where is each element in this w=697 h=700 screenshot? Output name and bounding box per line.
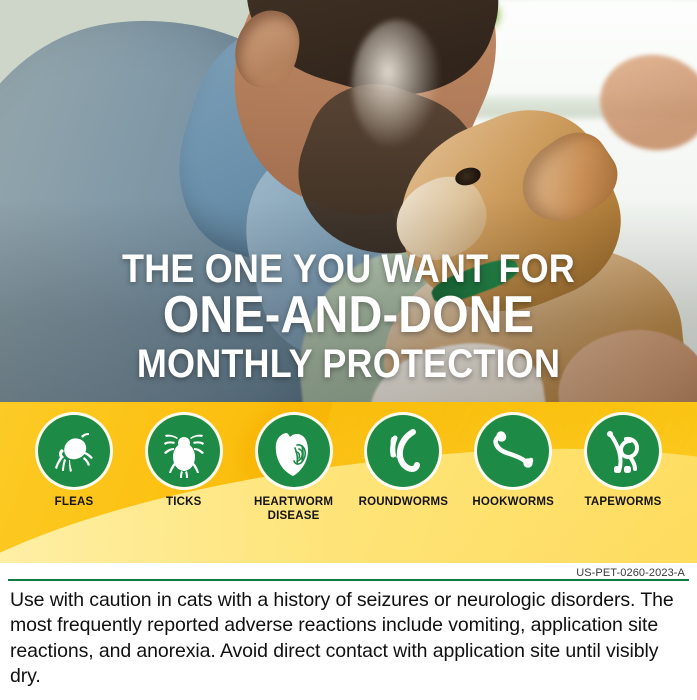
hookworm-icon bbox=[477, 415, 549, 487]
headline: THE ONE YOU WANT FOR ONE-AND-DONE MONTHL… bbox=[0, 250, 697, 384]
protection-label: TICKS bbox=[132, 496, 236, 510]
heartworm-icon bbox=[258, 415, 330, 487]
roundworm-icon bbox=[367, 415, 439, 487]
headline-line-1: THE ONE YOU WANT FOR bbox=[35, 250, 662, 288]
headline-line-3: MONTHLY PROTECTION bbox=[35, 345, 662, 383]
pet-medication-advertisement: THE ONE YOU WANT FOR ONE-AND-DONE MONTHL… bbox=[0, 0, 697, 700]
protection-item-fleas: FLEAS bbox=[22, 415, 126, 523]
product-code-row: US-PET-0260-2023-A bbox=[0, 563, 697, 579]
product-code: US-PET-0260-2023-A bbox=[576, 567, 685, 579]
tick-icon bbox=[148, 415, 220, 487]
protection-icon-row: FLEAS TICKS bbox=[0, 415, 697, 523]
flea-icon bbox=[38, 415, 110, 487]
green-divider bbox=[8, 579, 689, 581]
protection-item-heartworm: HEARTWORM DISEASE bbox=[242, 415, 346, 523]
headline-line-2: ONE-AND-DONE bbox=[35, 291, 662, 341]
protection-item-tapeworms: TAPEWORMS bbox=[571, 415, 675, 523]
protection-label: HEARTWORM DISEASE bbox=[242, 496, 346, 523]
tapeworm-icon bbox=[587, 415, 659, 487]
protection-item-ticks: TICKS bbox=[132, 415, 236, 523]
protection-label: TAPEWORMS bbox=[571, 496, 675, 510]
caution-text: Use with caution in cats with a history … bbox=[10, 588, 687, 689]
protection-item-roundworms: ROUNDWORMS bbox=[351, 415, 455, 523]
protection-label: FLEAS bbox=[22, 496, 126, 510]
protection-label: HOOKWORMS bbox=[461, 496, 565, 510]
protection-item-hookworms: HOOKWORMS bbox=[461, 415, 565, 523]
protection-label: ROUNDWORMS bbox=[351, 496, 455, 510]
